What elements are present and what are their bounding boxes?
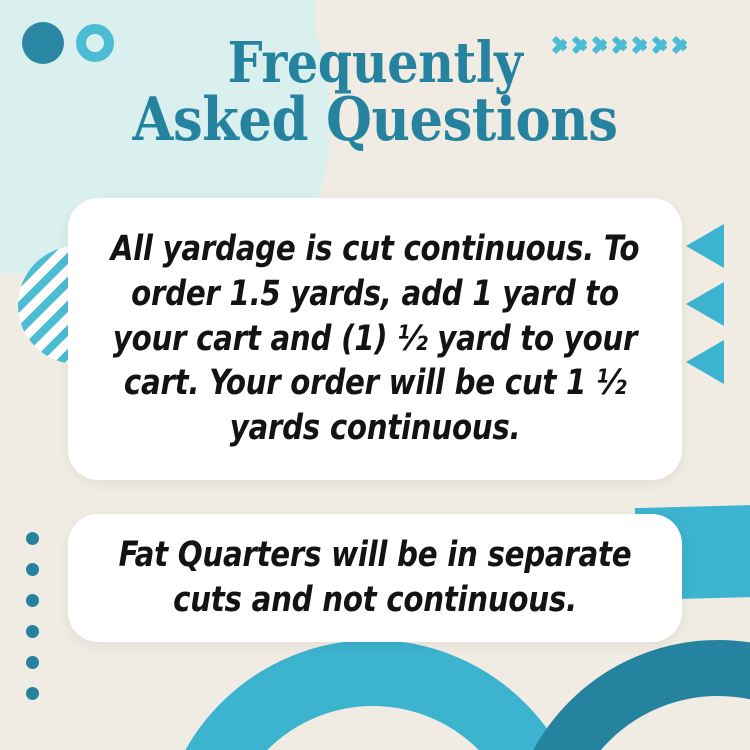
faq-card-yardage: All yardage is cut continuous. To order … <box>68 198 682 480</box>
page-title-line-2: Asked Questions <box>45 91 705 150</box>
dot-icon <box>26 594 39 607</box>
dot-column <box>26 532 39 718</box>
triangle-left-icon <box>686 340 724 384</box>
page-title-line-1: Frequently <box>45 36 705 91</box>
arc-icon-outer <box>508 640 750 750</box>
dot-icon <box>26 563 39 576</box>
dot-icon <box>26 625 39 638</box>
dot-icon <box>26 532 39 545</box>
arc-icon-inner <box>158 640 588 750</box>
dot-icon <box>26 687 39 700</box>
faq-card-fat-quarters: Fat Quarters will be in separate cuts an… <box>68 514 682 642</box>
faq-card-text: Fat Quarters will be in separate cuts an… <box>110 533 640 624</box>
page-title: Frequently Asked Questions <box>45 36 705 150</box>
faq-graphic: Frequently Asked Questions All yardage i… <box>0 0 750 750</box>
triangle-left-icon <box>686 224 724 268</box>
triangle-left-icon <box>686 282 724 326</box>
dot-icon <box>26 656 39 669</box>
faq-card-text: All yardage is cut continuous. To order … <box>110 227 640 451</box>
